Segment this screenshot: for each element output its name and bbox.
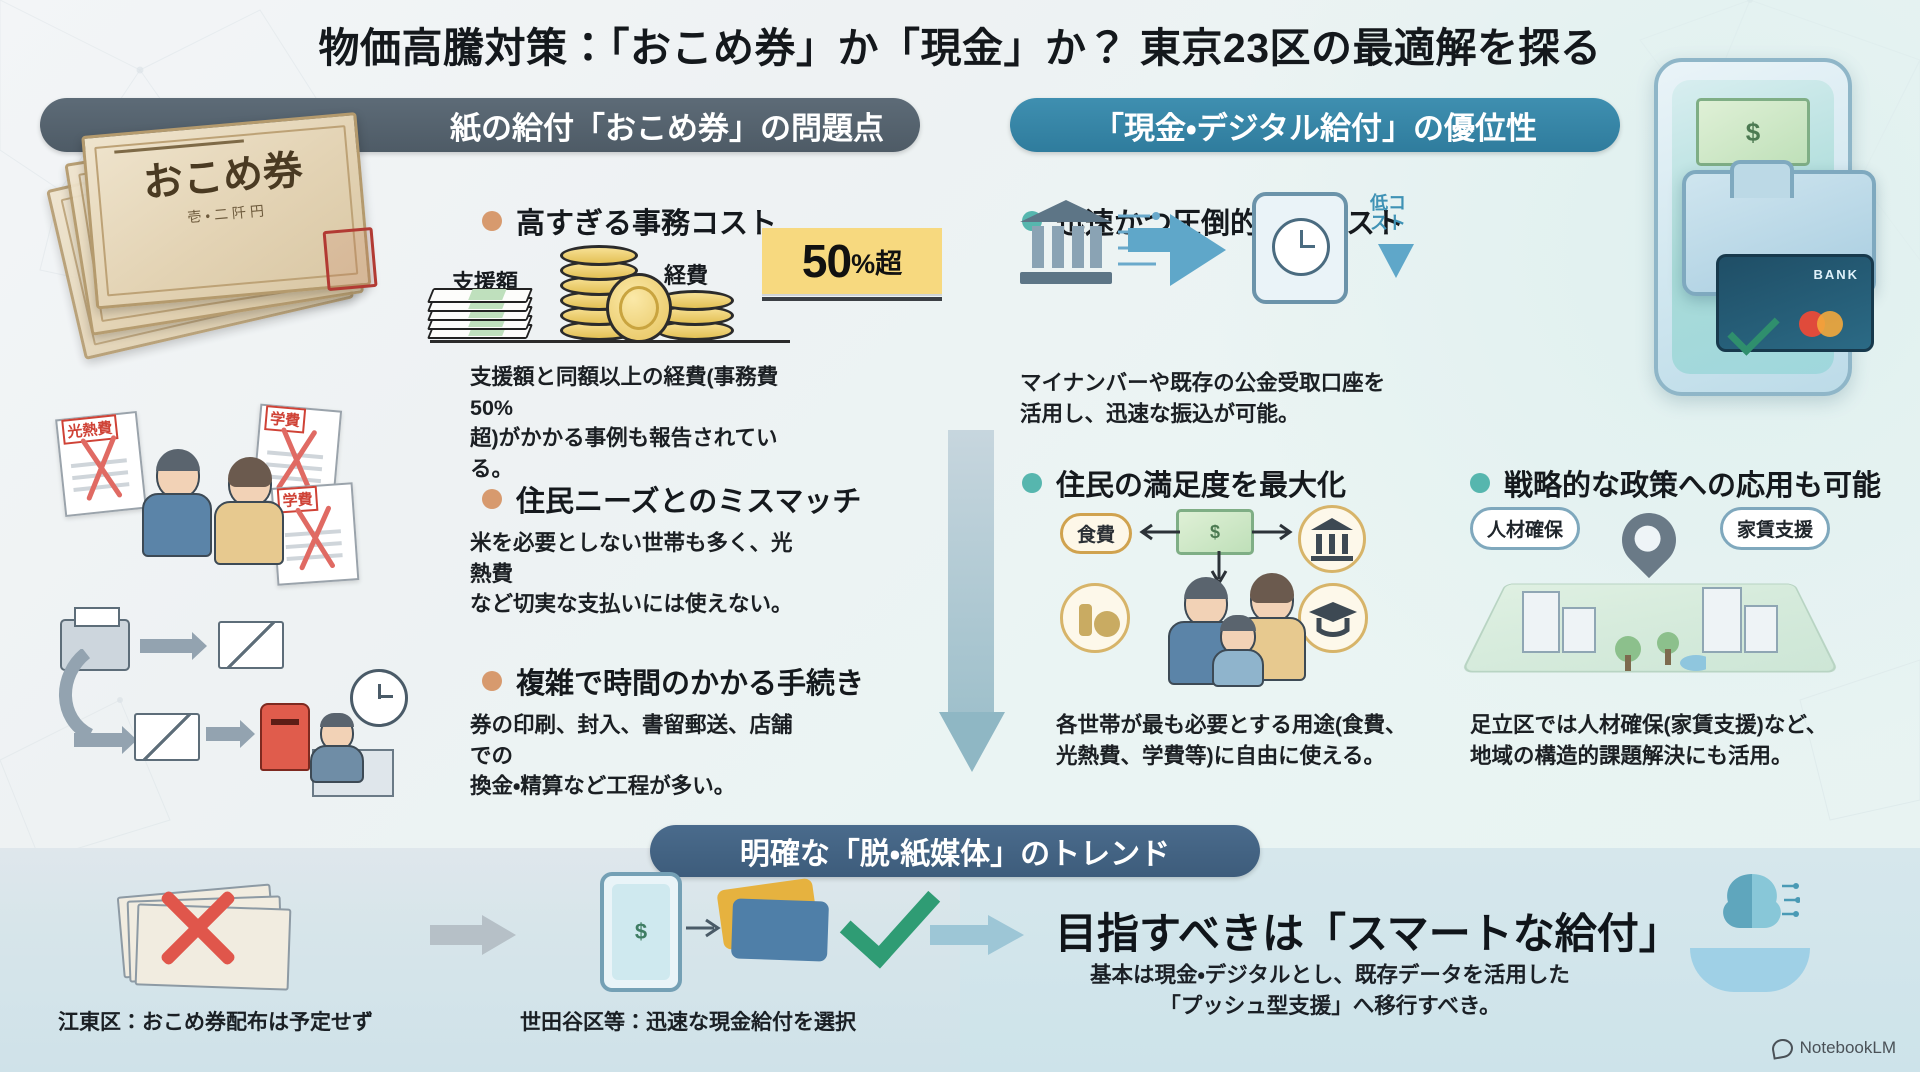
- bullet-dot-icon: [1022, 473, 1042, 493]
- wallet-strap: [1730, 160, 1794, 198]
- flow-curve-icon: [56, 649, 96, 741]
- bottom-panel-heading-pill: 明確な「脱・紙媒体」のトレンド: [650, 825, 1260, 877]
- graphic-baseline: [430, 340, 790, 343]
- groceries-circle-icon: [1060, 583, 1130, 653]
- watermark-label: NotebookLM: [1800, 1038, 1896, 1058]
- cost-down-arrow-icon: [1378, 244, 1414, 278]
- cross-out-icon: [67, 430, 136, 506]
- bank-to-transfer-graphic: 低コスト: [1020, 192, 1450, 302]
- money-symbol: $: [1746, 117, 1760, 148]
- building-icon: [1522, 591, 1560, 653]
- flow-arrow-icon: [206, 727, 242, 741]
- right-bullet-2-title: 住民の満足度を最大化: [1056, 462, 1346, 504]
- bottom-blue-arrow-icon: [930, 918, 1026, 952]
- left-bullet-2-body: 米を必要としない世帯も多く、光熱費 など切実な支払いには使えない。: [470, 528, 800, 620]
- bottom-caption-setagaya: 世田谷区等：迅速な現金給付を選択: [520, 1006, 856, 1036]
- right-bullet-2-heading: 住民の満足度を最大化: [1022, 462, 1346, 504]
- right-panel-heading-text: 「現金・デジタル給付」の優位性: [1093, 103, 1537, 148]
- left-panel-heading-text: 紙の給付「おこめ券」の問題点: [450, 103, 884, 148]
- bullet-dot-icon: [1470, 473, 1490, 493]
- cost-ratio-underline: [762, 297, 942, 301]
- payment-cards-icon: [720, 884, 840, 970]
- envelope-icon: [134, 713, 200, 761]
- right-panel-heading-pill: 「現金・デジタル給付」の優位性: [1010, 98, 1620, 152]
- park-trees-icon: [1606, 623, 1706, 677]
- bottom-caption-koto: 江東区：おこめ券配布は予定せず: [58, 1006, 373, 1036]
- building-icon: [1562, 607, 1596, 653]
- postbox-icon: [260, 703, 310, 771]
- building-icon: [1744, 605, 1778, 653]
- cost-ratio-unit: %超: [851, 242, 902, 281]
- expense-chip-food: 食費: [1060, 513, 1132, 554]
- building-icon: [1702, 587, 1742, 653]
- paper-process-illustration: [60, 615, 390, 795]
- graduation-cap-circle-icon: [1298, 583, 1368, 653]
- arrow-left-icon: [1136, 521, 1182, 543]
- bullet-dot-icon: [482, 489, 502, 509]
- household-usage-illustration: 食費 $: [1060, 505, 1390, 695]
- cost-comparison-graphic: [430, 235, 790, 345]
- digital-phone-icon: $: [600, 872, 682, 992]
- policy-tag-talent: 人材確保: [1470, 507, 1580, 550]
- clock-icon: [350, 669, 408, 727]
- cash-note-icon: $: [1696, 98, 1810, 166]
- regional-policy-illustration: 人材確保 家賃支援: [1470, 495, 1830, 695]
- right-bullet-1-body: マイナンバーや既存の公金受取口座を 活用し、迅速な振込が可能。: [1020, 368, 1400, 429]
- small-arrow-icon: [684, 916, 724, 940]
- left-bullet-1-body: 支援額と同額以上の経費(事務費50% 超)がかかる事例も報告されている。: [470, 362, 800, 484]
- flow-arrow-head-icon: [1170, 214, 1226, 286]
- bottom-gray-arrow-icon: [430, 918, 516, 952]
- phone-money-screen: $: [612, 884, 670, 980]
- notebooklm-watermark: NotebookLM: [1772, 1038, 1896, 1058]
- flow-arrow-tail: [1128, 228, 1176, 252]
- left-bullet-3-body: 券の印刷、封入、書留郵送、店舗での 換金・精算など工程が多い。: [470, 710, 810, 802]
- banknote-stack-icon: [430, 287, 534, 339]
- bullet-dot-icon: [482, 671, 502, 691]
- left-bullet-2-heading: 住民ニーズとのミスマッチ: [482, 478, 861, 520]
- arrow-right-icon: [1250, 521, 1296, 543]
- coupon-seal-stamp: [323, 227, 378, 291]
- device-clock-icon: [1252, 192, 1348, 304]
- left-bullet-2-title: 住民ニーズとのミスマッチ: [516, 478, 861, 520]
- bottom-claim-subtitle: 基本は現金・デジタルとし、既存データを活用した 「プッシュ型支援」へ移行すべき。: [1090, 960, 1570, 1022]
- bullet-dot-icon: [482, 211, 502, 231]
- stamped-letter-icon: [218, 621, 284, 669]
- right-bullet-3-body: 足立区では人材確保(家賃支援)など、 地域の構造的課題解決にも活用。: [1470, 710, 1850, 771]
- mismatch-illustration: 光熱費 学費 学費: [60, 415, 370, 590]
- cost-ratio-number: 50: [802, 234, 851, 288]
- map-pin-icon: [1611, 502, 1687, 578]
- okome-coupon-illustration: おこめ券 壱・二阡円: [48, 101, 401, 350]
- policy-tag-rent: 家賃支援: [1720, 507, 1830, 550]
- left-bullet-3-heading: 複雑で時間のかかる手続き: [482, 660, 864, 702]
- notebooklm-logo-icon: [1770, 1037, 1794, 1059]
- rejected-cross-icon: [150, 880, 246, 976]
- bottom-claim-title: 目指すべきは「スマートな給付」: [1055, 900, 1681, 961]
- cross-out-icon: [282, 501, 349, 575]
- coin-large-icon: [606, 273, 672, 343]
- bank-card-label: BANK: [1813, 267, 1859, 282]
- low-cost-label: 低コスト: [1364, 194, 1412, 234]
- bank-building-icon: [1020, 200, 1112, 284]
- infographic-page: 物価高騰対策：「おこめ券」か「現金」か？ 東京23区の最適解を探る 紙の給付「お…: [0, 0, 1920, 1072]
- flow-arrow-icon: [140, 639, 194, 653]
- bottom-panel-heading-text: 明確な「脱・紙媒体」のトレンド: [740, 829, 1170, 873]
- public-building-circle-icon: [1298, 505, 1366, 573]
- right-bullet-2-body: 各世帯が最も必要とする用途(食費、 光熱費、学費等)に自由に使える。: [1056, 710, 1436, 771]
- paper-utility-bill: 光熱費: [55, 411, 147, 517]
- digital-payment-illustration: $ BANK: [1624, 58, 1874, 388]
- brain-ai-icon: [1704, 866, 1800, 950]
- cost-ratio-badge: 50 %超: [762, 228, 942, 294]
- left-bullet-3-title: 複雑で時間のかかる手続き: [516, 660, 864, 702]
- transition-arrow-icon: [940, 430, 1004, 780]
